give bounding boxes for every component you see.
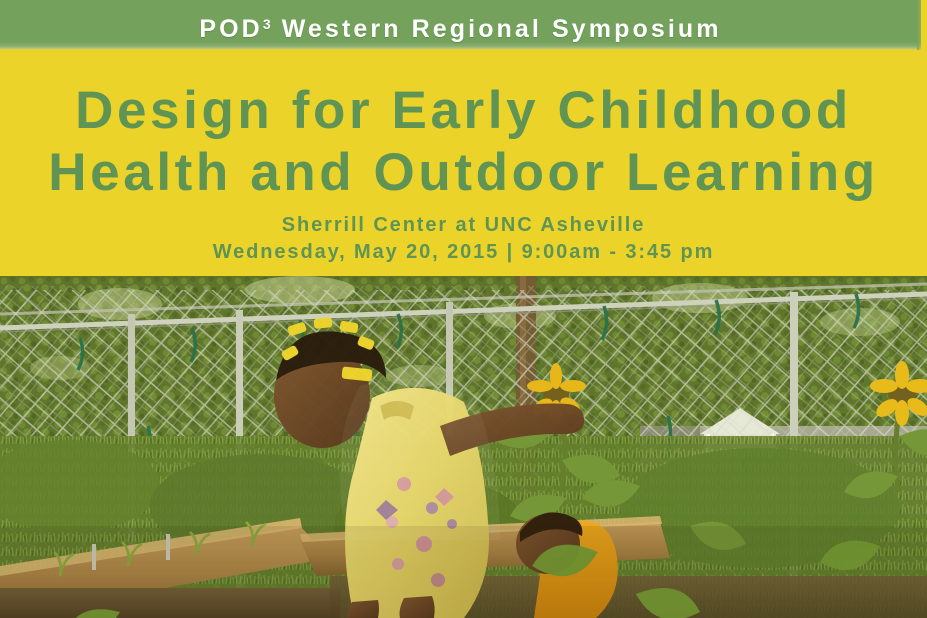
banner-organization: POD — [199, 15, 262, 43]
event-venue: Sherrill Center at UNC Asheville — [0, 212, 927, 239]
event-details: Sherrill Center at UNC Asheville Wednesd… — [0, 212, 927, 266]
page-title: Design for Early Childhood Health and Ou… — [0, 80, 927, 204]
banner-event-name: Western Regional Symposium — [282, 15, 722, 43]
page-title-line-2: Health and Outdoor Learning — [0, 142, 927, 204]
photo-bottom-shade — [0, 526, 927, 618]
title-block: Design for Early Childhood Health and Ou… — [0, 58, 927, 276]
banner-container: POD3 Western Regional Symposium — [0, 0, 927, 58]
green-banner: POD3 Western Regional Symposium — [0, 0, 921, 50]
garden-photo-illustration — [0, 276, 927, 618]
garden-photo — [0, 276, 927, 618]
symposium-poster: POD3 Western Regional Symposium Design f… — [0, 0, 927, 618]
banner-superscript: 3 — [263, 16, 272, 32]
event-datetime: Wednesday, May 20, 2015 | 9:00am - 3:45 … — [0, 239, 927, 266]
banner-title: POD3 Western Regional Symposium — [0, 9, 921, 44]
page-title-line-1: Design for Early Childhood — [0, 80, 927, 142]
